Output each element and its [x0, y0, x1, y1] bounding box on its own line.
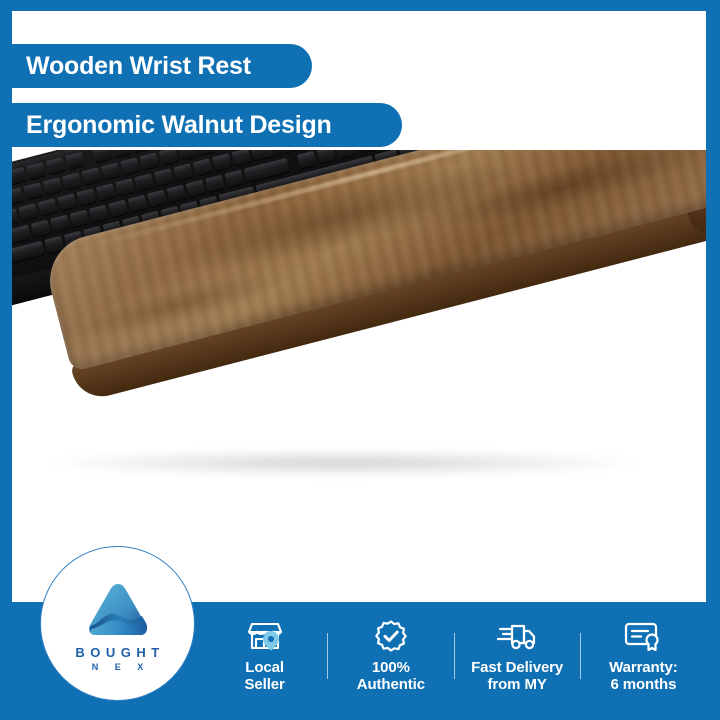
badge-label: Fast Delivery from MY: [471, 659, 563, 693]
keycap: [251, 150, 276, 161]
keycap: [193, 158, 213, 176]
badge-label: 100% Authentic: [357, 659, 425, 693]
keycap: [70, 210, 90, 228]
keycap: [178, 150, 198, 160]
keycap: [363, 150, 383, 152]
product-shadow: [42, 450, 642, 476]
keycap: [46, 157, 66, 175]
keycap: [76, 188, 96, 206]
headline-pill-primary: Wooden Wrist Rest: [0, 44, 312, 88]
keycap: [212, 153, 232, 171]
keycap: [12, 208, 19, 228]
keycap: [205, 175, 225, 193]
brand-wordmark: BOUGHT: [70, 645, 164, 660]
badge-local-seller: Local Seller: [202, 602, 327, 709]
keycap: [38, 198, 58, 216]
keycap: [159, 150, 179, 165]
storefront-pin-icon: [245, 618, 285, 654]
keycap: [101, 162, 121, 180]
brand-mark-icon: [85, 582, 151, 638]
keycap: [31, 220, 51, 238]
keycap: [62, 172, 82, 190]
badge-fast-delivery: Fast Delivery from MY: [455, 602, 580, 709]
keycap: [283, 150, 303, 153]
keycap: [135, 173, 155, 191]
keycap: [108, 200, 128, 218]
keycap: [18, 203, 38, 221]
keycap: [173, 163, 193, 181]
keycap: [131, 150, 151, 153]
badge-authentic: 100% Authentic: [328, 602, 453, 709]
keycap: [50, 215, 70, 233]
keycap: [186, 180, 206, 198]
keycap: [336, 150, 356, 159]
keycap: [297, 151, 317, 169]
badge-label: Local Seller: [244, 659, 284, 693]
keycap: [147, 190, 167, 208]
brand-logo: BOUGHT N E X: [40, 546, 195, 701]
keycap: [115, 178, 135, 196]
keycap: [89, 205, 109, 223]
trust-badges: Local Seller 100% Authentic: [202, 602, 706, 709]
keycap: [225, 170, 245, 188]
keycap: [43, 177, 63, 195]
product-composition: [12, 150, 706, 570]
keycap: [57, 193, 77, 211]
keycap: [65, 152, 85, 170]
headline-line-1: Wooden Wrist Rest: [26, 52, 251, 81]
keycap: [166, 185, 186, 203]
check-badge-icon: [371, 618, 411, 654]
badge-warranty: Warranty: 6 months: [581, 602, 706, 709]
keycap: [139, 152, 159, 170]
keycap: [120, 157, 140, 175]
product-photo: [12, 150, 706, 570]
headline-line-2: Ergonomic Walnut Design: [26, 111, 332, 140]
keycap: [92, 150, 112, 163]
keycap: [128, 195, 148, 213]
brand-submark: N E X: [85, 662, 151, 672]
keycap: [12, 241, 45, 266]
keycap: [316, 150, 336, 164]
delivery-truck-icon: [497, 618, 537, 654]
certificate-seal-icon: [623, 618, 663, 654]
keycap: [81, 167, 101, 185]
keycap: [12, 167, 27, 185]
keycap: [231, 150, 251, 166]
keycap: [154, 168, 174, 186]
keycap: [198, 150, 218, 155]
product-listing-image: Wooden Wrist Rest Ergonomic Walnut Desig…: [0, 0, 720, 720]
keycap: [111, 150, 131, 158]
keycap: [26, 162, 46, 180]
headline-pill-secondary: Ergonomic Walnut Design: [0, 103, 402, 147]
keycap: [12, 187, 24, 205]
keycap: [96, 183, 116, 201]
keycap: [23, 182, 43, 200]
badge-label: Warranty: 6 months: [609, 659, 678, 693]
